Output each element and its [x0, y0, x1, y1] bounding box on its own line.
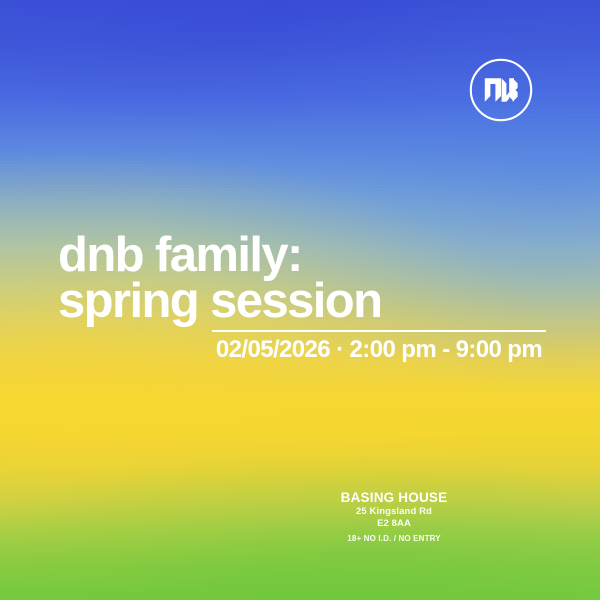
venue-entry-policy: 18+ NO I.D. / NO ENTRY — [244, 533, 544, 545]
dnb-circle-logo-icon — [468, 57, 534, 123]
headline-line-2: spring session — [58, 278, 558, 324]
venue-block: BASING HOUSE 25 Kingsland Rd E2 8AA 18+ … — [244, 490, 544, 545]
headline-divider-rule — [212, 330, 546, 332]
venue-name: BASING HOUSE — [244, 490, 544, 506]
headline-line-1: dnb family: — [58, 232, 558, 278]
venue-street-address: 25 Kingsland Rd — [244, 506, 544, 518]
event-datetime: 02/05/2026 · 2:00 pm - 9:00 pm — [212, 336, 546, 364]
headline-block: dnb family: spring session — [58, 232, 558, 324]
event-poster: dnb family: spring session 02/05/2026 · … — [0, 0, 600, 600]
venue-postcode: E2 8AA — [244, 518, 544, 530]
